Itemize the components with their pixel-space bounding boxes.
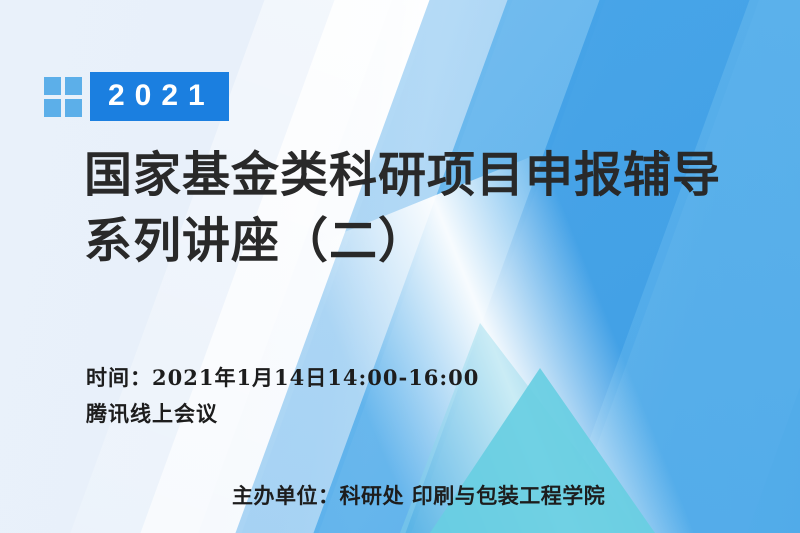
event-details: 时间：2021年1月14日14:00-16:00 腾讯线上会议	[86, 360, 479, 432]
year-badge: 2021	[90, 72, 229, 121]
poster-content: 2021 国家基金类科研项目申报辅导 系列讲座（二） 时间：2021年1月14日…	[0, 0, 800, 533]
poster-canvas: 2021 国家基金类科研项目申报辅导 系列讲座（二） 时间：2021年1月14日…	[0, 0, 800, 533]
grid-icon-square-4	[65, 99, 82, 117]
year-badge-row: 2021	[44, 72, 229, 121]
grid-icon-square-3	[44, 99, 61, 117]
grid-icon	[44, 77, 82, 117]
page-title-line-2: 系列讲座（二）	[84, 208, 721, 274]
grid-icon-square-1	[44, 77, 61, 95]
event-organizer: 主办单位：科研处 印刷与包装工程学院	[232, 480, 605, 510]
event-platform: 腾讯线上会议	[86, 396, 479, 432]
grid-icon-square-2	[65, 77, 82, 95]
page-title-line-1: 国家基金类科研项目申报辅导	[84, 142, 721, 208]
event-time: 时间：2021年1月14日14:00-16:00	[86, 360, 479, 396]
page-title: 国家基金类科研项目申报辅导 系列讲座（二）	[84, 142, 721, 274]
